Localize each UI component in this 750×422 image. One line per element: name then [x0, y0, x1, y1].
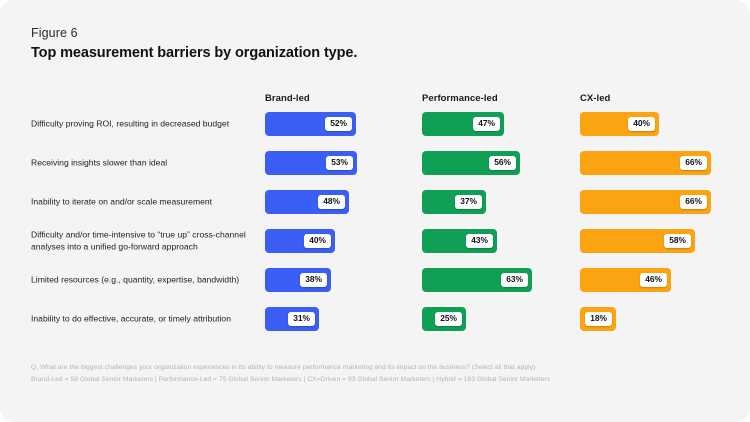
bar-value-label: 47%: [473, 117, 500, 131]
bar-group-brand-led: 48%: [265, 190, 349, 214]
footnote-sample-sizes: Brand-Led = 58 Global Senior Marketers |…: [31, 376, 550, 383]
bar-group-brand-led: 40%: [265, 229, 335, 253]
bar-group-cx-led: 46%: [580, 268, 671, 292]
bar-value-label: 38%: [300, 273, 327, 287]
figure-label: Figure 6: [31, 26, 78, 40]
bar-value-label: 40%: [628, 117, 655, 131]
bar-group-performance-led: 47%: [422, 112, 504, 136]
bar: 52%: [265, 112, 356, 136]
bar-group-performance-led: 43%: [422, 229, 497, 253]
bar-group-brand-led: 53%: [265, 151, 357, 175]
bar: 18%: [580, 307, 616, 331]
bar-value-label: 66%: [680, 156, 707, 170]
bar-group-cx-led: 66%: [580, 151, 711, 175]
row-label: Inability to iterate on and/or scale mea…: [31, 196, 253, 208]
column-header-brand-led: Brand-led: [265, 93, 310, 104]
bar-group-brand-led: 52%: [265, 112, 356, 136]
bar-group-performance-led: 56%: [422, 151, 520, 175]
bar-group-brand-led: 38%: [265, 268, 331, 292]
bar: 31%: [265, 307, 319, 331]
bar-group-cx-led: 66%: [580, 190, 711, 214]
bar-value-label: 31%: [288, 312, 315, 326]
bar-group-performance-led: 63%: [422, 268, 532, 292]
bar-value-label: 63%: [501, 273, 528, 287]
row-label: Limited resources (e.g., quantity, exper…: [31, 274, 253, 286]
bar: 66%: [580, 151, 711, 175]
bar: 25%: [422, 307, 466, 331]
chart-row: Receiving insights slower than ideal53%5…: [0, 146, 750, 180]
bar-value-label: 43%: [466, 234, 493, 248]
bar-value-label: 37%: [455, 195, 482, 209]
bar: 63%: [422, 268, 532, 292]
bar: 37%: [422, 190, 486, 214]
bar: 38%: [265, 268, 331, 292]
bar-group-cx-led: 40%: [580, 112, 659, 136]
bar: 58%: [580, 229, 695, 253]
bar-group-performance-led: 25%: [422, 307, 466, 331]
bar: 43%: [422, 229, 497, 253]
bar: 66%: [580, 190, 711, 214]
column-header-cx-led: CX-led: [580, 93, 610, 104]
row-label: Difficulty proving ROI, resulting in dec…: [31, 118, 253, 130]
bar-value-label: 66%: [680, 195, 707, 209]
bar-value-label: 40%: [304, 234, 331, 248]
bar: 53%: [265, 151, 357, 175]
bar: 46%: [580, 268, 671, 292]
chart-row: Inability to do effective, accurate, or …: [0, 302, 750, 336]
bar-group-cx-led: 58%: [580, 229, 695, 253]
bar-value-label: 53%: [326, 156, 353, 170]
page-title: Top measurement barriers by organization…: [31, 45, 357, 61]
footnote-question: Q. What are the biggest challenges your …: [31, 364, 535, 371]
row-label: Inability to do effective, accurate, or …: [31, 313, 253, 325]
bar: 47%: [422, 112, 504, 136]
chart-row: Inability to iterate on and/or scale mea…: [0, 185, 750, 219]
bar-group-performance-led: 37%: [422, 190, 486, 214]
bar: 40%: [580, 112, 659, 136]
chart-row: Difficulty and/or time-intensive to “tru…: [0, 224, 750, 258]
bar-group-brand-led: 31%: [265, 307, 319, 331]
bar-value-label: 46%: [640, 273, 667, 287]
chart-row: Difficulty proving ROI, resulting in dec…: [0, 107, 750, 141]
bar-value-label: 52%: [325, 117, 352, 131]
bar-value-label: 56%: [489, 156, 516, 170]
column-header-performance-led: Performance-led: [422, 93, 498, 104]
bar-value-label: 58%: [664, 234, 691, 248]
bar: 56%: [422, 151, 520, 175]
bar-value-label: 18%: [585, 312, 612, 326]
bar: 40%: [265, 229, 335, 253]
row-label: Difficulty and/or time-intensive to “tru…: [31, 230, 253, 253]
bar-group-cx-led: 18%: [580, 307, 616, 331]
chart-row: Limited resources (e.g., quantity, exper…: [0, 263, 750, 297]
row-label: Receiving insights slower than ideal: [31, 157, 253, 169]
bar-value-label: 48%: [318, 195, 345, 209]
bar-value-label: 25%: [435, 312, 462, 326]
bar: 48%: [265, 190, 349, 214]
figure-card: Figure 6 Top measurement barriers by org…: [0, 0, 750, 422]
